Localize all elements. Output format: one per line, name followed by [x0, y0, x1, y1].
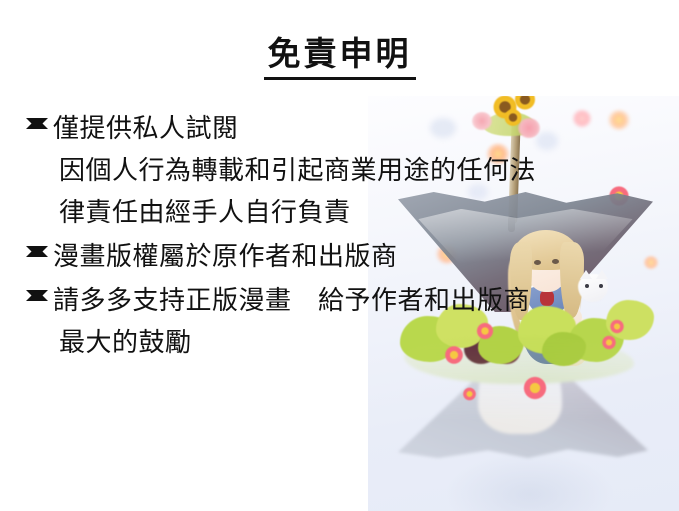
diamond-bullet-icon — [26, 290, 48, 312]
bullet-line-text: 請多多支持正版漫畫 給予作者和出版商 — [53, 286, 530, 316]
pink-daisy-icon — [520, 374, 550, 402]
pink-daisy-icon — [461, 386, 478, 402]
bullet-item: 僅提供私人試閱 因個人行為轉載和引起商業用途的任何法 律責任由經手人自行負責 — [26, 108, 638, 234]
bullet-item: 請多多支持正版漫畫 給予作者和出版商 最大的鼓勵 — [26, 280, 638, 364]
page-title: 免責申明 — [0, 36, 679, 72]
bullet-line: 僅提供私人試閱 — [26, 108, 638, 150]
bullet-line: 因個人行為轉載和引起商業用途的任何法 — [26, 150, 638, 192]
bullet-line-text: 漫畫版權屬於原作者和出版商 — [53, 242, 398, 272]
disclaimer-body: 僅提供私人試閱 因個人行為轉載和引起商業用途的任何法 律責任由經手人自行負責 漫… — [26, 108, 638, 366]
bullet-line: 最大的鼓勵 — [26, 322, 638, 364]
bullet-line-text: 僅提供私人試閱 — [53, 114, 239, 144]
slide-canvas: 免責申明 僅提供私人試閱 因個人行為轉載和引起商業用途的任何法 律責任由經手人自… — [0, 0, 679, 511]
page-title-text: 免責申明 — [264, 34, 416, 80]
bullet-line: 律責任由經手人自行負責 — [26, 192, 638, 234]
bullet-item: 漫畫版權屬於原作者和出版商 — [26, 236, 638, 278]
bullet-line: 漫畫版權屬於原作者和出版商 — [26, 236, 638, 278]
bullet-line: 請多多支持正版漫畫 給予作者和出版商 — [26, 280, 638, 322]
diamond-bullet-icon — [26, 246, 48, 268]
diamond-bullet-icon — [26, 118, 48, 140]
